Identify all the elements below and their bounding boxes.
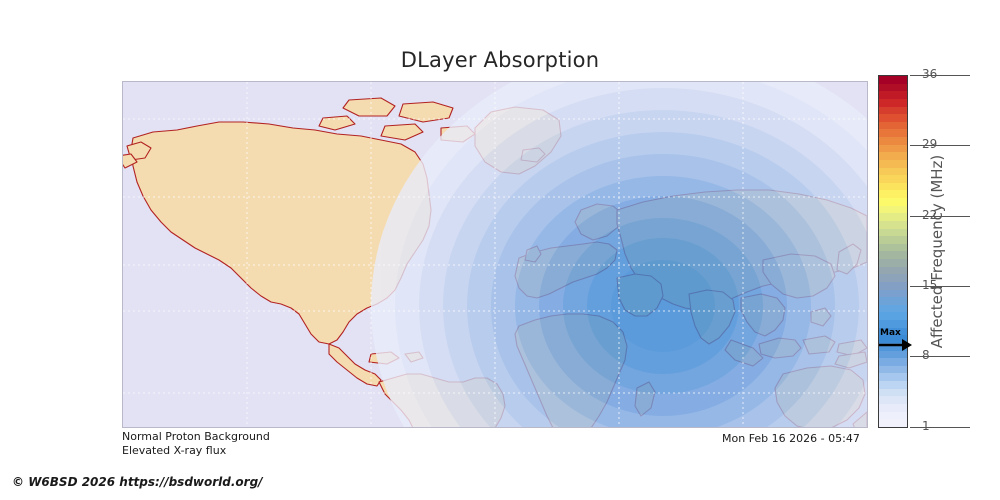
colorbar-band [879,198,907,206]
max-arrow-icon [878,338,914,358]
proton-background-note: Normal Proton Background [122,430,270,444]
colorbar-band [879,419,907,427]
colorbar-band [879,358,907,366]
colorbar-band [879,290,907,298]
colorbar: 36 29 22 15 8 1 [878,75,908,428]
colorbar-band [879,84,907,92]
colorbar-band [879,259,907,267]
max-marker-label: Max [880,328,901,338]
colorbar-band [879,274,907,282]
status-notes: Normal Proton Background Elevated X-ray … [122,430,270,458]
colorbar-band [879,76,907,84]
colorbar-band [879,404,907,412]
colorbar-band [879,206,907,214]
colorbar-band [879,229,907,237]
colorbar-band [879,297,907,305]
colorbar-band [879,236,907,244]
colorbar-band [879,396,907,404]
colorbar-band [879,305,907,313]
colorbar-band [879,213,907,221]
colorbar-band [879,137,907,145]
colorbar-band [879,175,907,183]
colorbar-band [879,267,907,275]
colorbar-band [879,107,907,115]
colorbar-band [879,122,907,130]
colorbar-band [879,373,907,381]
map-basemap [123,82,867,427]
colorbar-band [879,412,907,420]
page-title: DLayer Absorption [0,48,1000,72]
colorbar-band [879,244,907,252]
copyright-symbol: © [12,475,24,489]
copyright-text: W6BSD 2026 https://bsdworld.org/ [28,475,262,489]
colorbar-band [879,190,907,198]
colorbar-band [879,183,907,191]
colorbar-band [879,221,907,229]
colorbar-band [879,129,907,137]
colorbar-band [879,251,907,259]
colorbar-band [879,320,907,328]
colorbar-band [879,366,907,374]
colorbar-band [879,99,907,107]
colorbar-axis-label: Affected Frequency (MHz) [924,75,950,428]
colorbar-band [879,381,907,389]
timestamp: Mon Feb 16 2026 - 05:47 [722,432,860,445]
colorbar-band [879,152,907,160]
xray-flux-note: Elevated X-ray flux [122,444,270,458]
world-map[interactable] [122,81,868,428]
colorbar-band [879,91,907,99]
colorbar-band [879,145,907,153]
copyright-footer: © W6BSD 2026 https://bsdworld.org/ [12,475,263,489]
colorbar-band [879,114,907,122]
colorbar-band [879,389,907,397]
colorbar-band [879,312,907,320]
colorbar-gradient [878,75,908,428]
colorbar-band [879,282,907,290]
map-canvas [123,82,867,427]
colorbar-band [879,160,907,168]
colorbar-band [879,168,907,176]
